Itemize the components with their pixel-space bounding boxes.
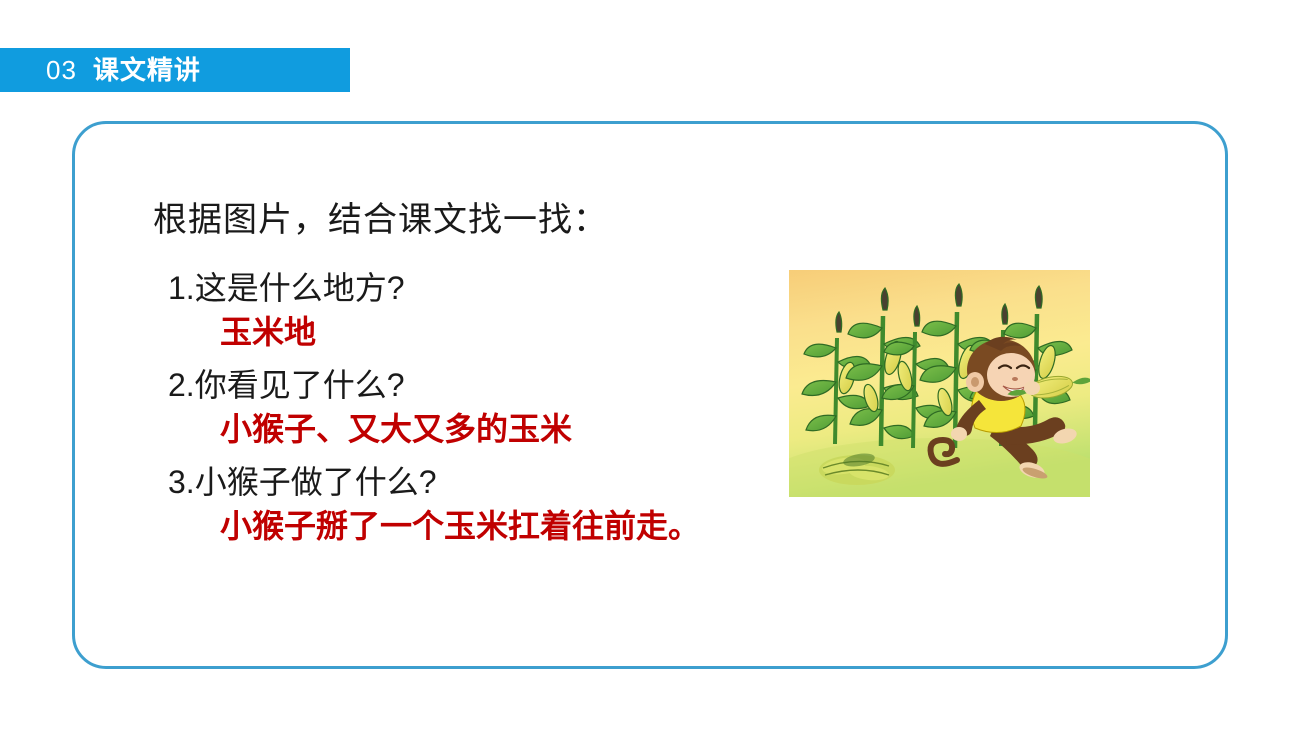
cornfield-monkey-illustration [789,270,1090,497]
qa-question: 1.这是什么地方? [168,272,768,304]
qa-list: 1.这是什么地方? 玉米地 2.你看见了什么? 小猴子、又大又多的玉米 3.小猴… [168,272,768,542]
qa-item: 3.小猴子做了什么? 小猴子掰了一个玉米扛着往前走。 [168,466,768,542]
qa-answer: 玉米地 [168,316,768,348]
qa-item: 1.这是什么地方? 玉米地 [168,272,768,348]
qa-answer: 小猴子、又大又多的玉米 [168,413,768,445]
section-title: 课文精讲 [93,57,201,83]
section-number: 03 [46,57,77,83]
qa-answer: 小猴子掰了一个玉米扛着往前走。 [168,510,768,542]
section-banner: 03 课文精讲 [0,48,350,92]
qa-question: 2.你看见了什么? [168,369,768,401]
qa-question: 3.小猴子做了什么? [168,466,768,498]
cornfield-monkey-image [789,270,1090,497]
prompt-text: 根据图片，结合课文找一找： [153,192,608,241]
qa-item: 2.你看见了什么? 小猴子、又大又多的玉米 [168,369,768,445]
